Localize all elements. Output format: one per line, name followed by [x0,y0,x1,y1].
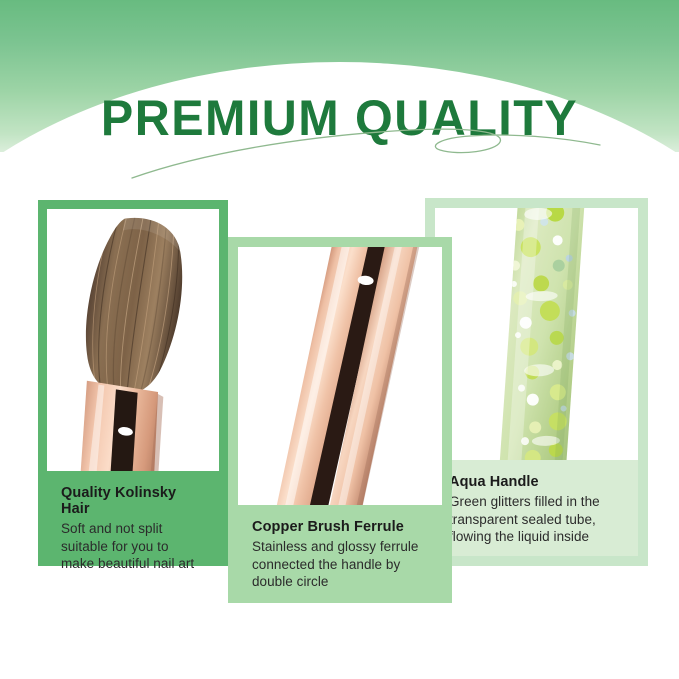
card-caption-panel: Aqua Handle Green glitters filled in the… [435,460,638,556]
card-caption-panel: Quality Kolinsky Hair Soft and not split… [47,471,219,557]
copper-ferrule-photo [238,247,442,505]
page-title: PREMIUM QUALITY [10,92,669,144]
card-body-text: Green glitters filled in the transparent… [449,493,624,546]
card-caption-panel: Copper Brush Ferrule Stainless and gloss… [238,505,442,593]
feature-card-copper-brush-ferrule: Copper Brush Ferrule Stainless and gloss… [228,237,452,603]
aqua-glitter-handle-photo [435,208,638,460]
card-heading: Copper Brush Ferrule [252,519,428,535]
feature-card-aqua-handle: Aqua Handle Green glitters filled in the… [425,198,648,566]
card-heading: Quality Kolinsky Hair [61,485,205,517]
card-body-text: Stainless and glossy ferrule connected t… [252,538,428,591]
brush-head-photo [47,209,219,471]
card-heading: Aqua Handle [449,474,624,490]
feature-card-quality-kolinsky-hair: Quality Kolinsky Hair Soft and not split… [38,200,228,566]
card-body-text: Soft and not split suitable for you to m… [61,520,205,573]
infographic-canvas: PREMIUM QUALITY [0,0,679,679]
